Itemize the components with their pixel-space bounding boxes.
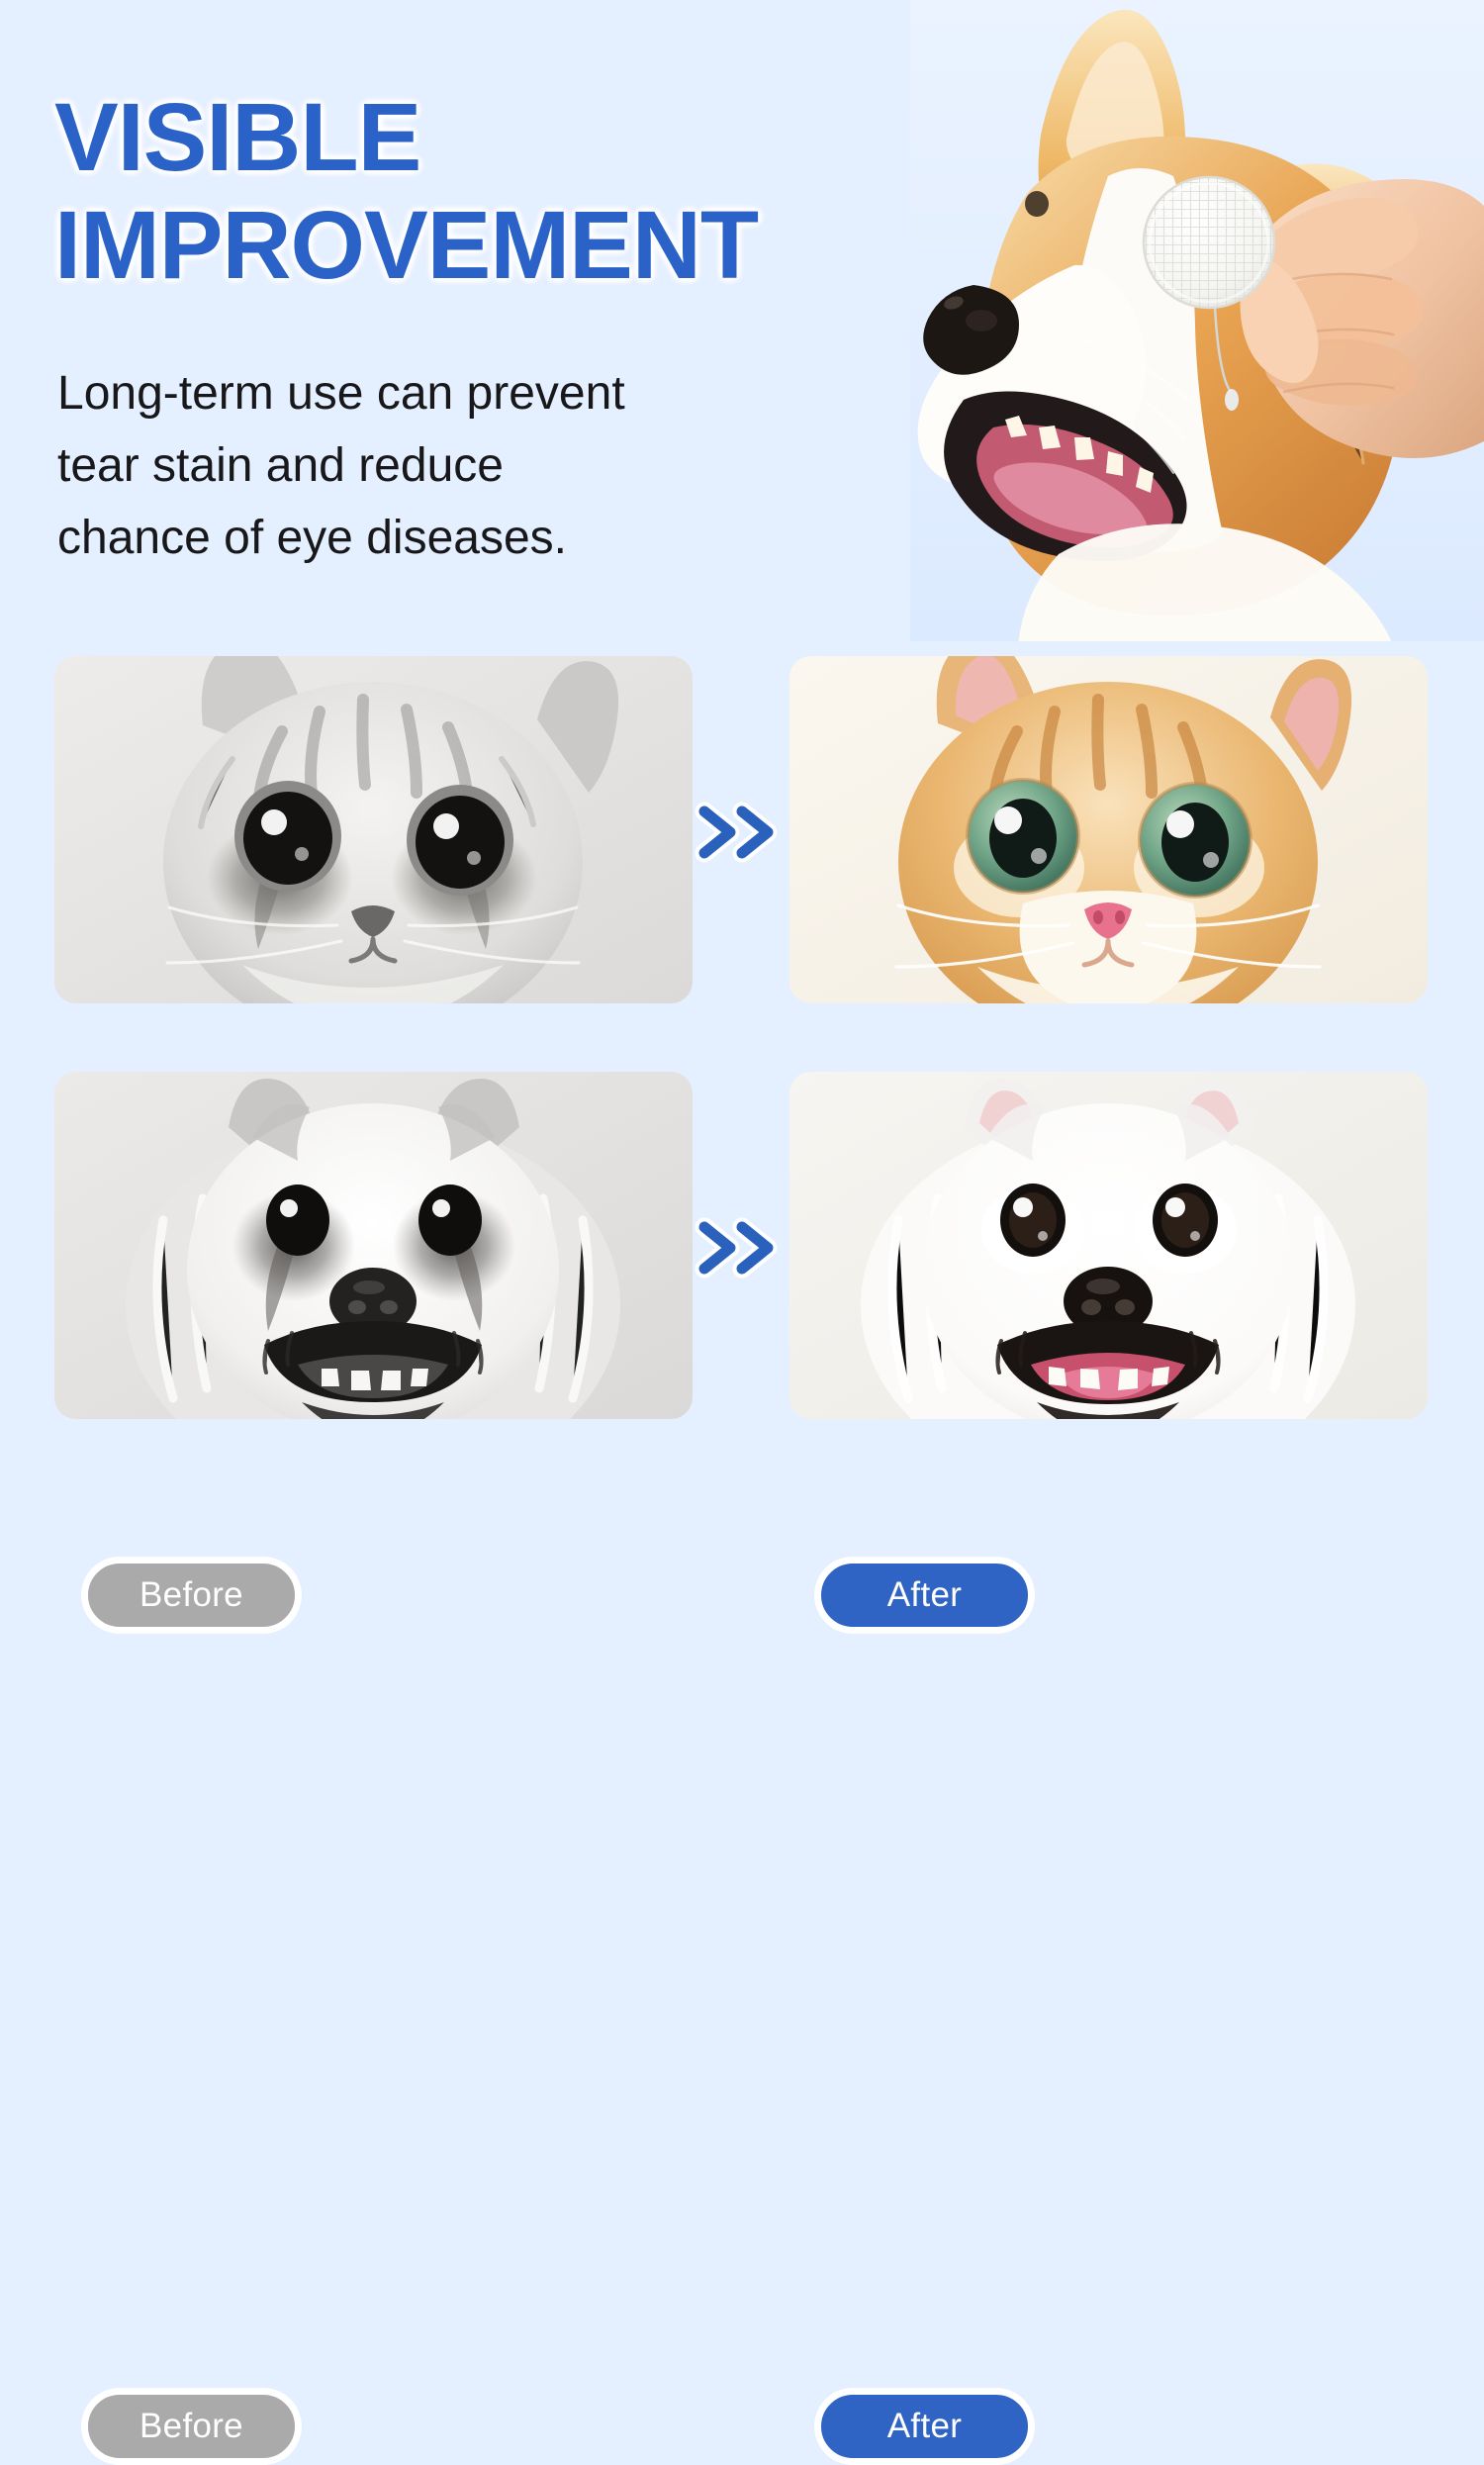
before-panel-dog: [54, 1072, 693, 1419]
after-panel-cat: [789, 656, 1428, 1003]
subheading-text: Long-term use can prevent tear stain and…: [57, 358, 879, 575]
after-badge-label: After: [887, 2407, 962, 2446]
subcopy-line-1: Long-term use can prevent: [57, 358, 879, 430]
after-badge-dog[interactable]: After: [814, 2388, 1035, 2465]
cat-comparison-row: Before After: [0, 656, 1484, 1003]
before-panel-cat: [54, 656, 693, 1003]
after-dog-illustration: [789, 1072, 1428, 1419]
after-panel-dog: [789, 1072, 1428, 1419]
headline-line-2: IMPROVEMENT: [54, 192, 965, 300]
before-badge-label: Before: [139, 1575, 243, 1615]
after-cat-illustration: [789, 656, 1428, 1003]
hero-dog-illustration: [910, 0, 1484, 641]
double-chevron-right-icon: [691, 797, 782, 868]
comparison-arrow-cats: [691, 797, 782, 868]
before-dog-illustration: [54, 1072, 693, 1419]
subcopy-line-3: chance of eye diseases.: [57, 503, 879, 575]
subcopy-line-2: tear stain and reduce: [57, 430, 879, 503]
headline-line-1: VISIBLE: [54, 84, 965, 192]
comparison-arrow-dogs: [691, 1212, 782, 1283]
after-badge-label: After: [887, 1575, 962, 1615]
before-badge-dog[interactable]: Before: [81, 2388, 302, 2465]
hero-image: [910, 0, 1484, 641]
before-cat-illustration: [54, 656, 693, 1003]
before-badge-cat[interactable]: Before: [81, 1557, 302, 1634]
after-badge-cat[interactable]: After: [814, 1557, 1035, 1634]
before-badge-label: Before: [139, 2407, 243, 2446]
double-chevron-right-icon: [691, 1212, 782, 1283]
dog-comparison-row: Before After: [0, 1072, 1484, 1419]
page-title: VISIBLE IMPROVEMENT: [54, 84, 965, 299]
